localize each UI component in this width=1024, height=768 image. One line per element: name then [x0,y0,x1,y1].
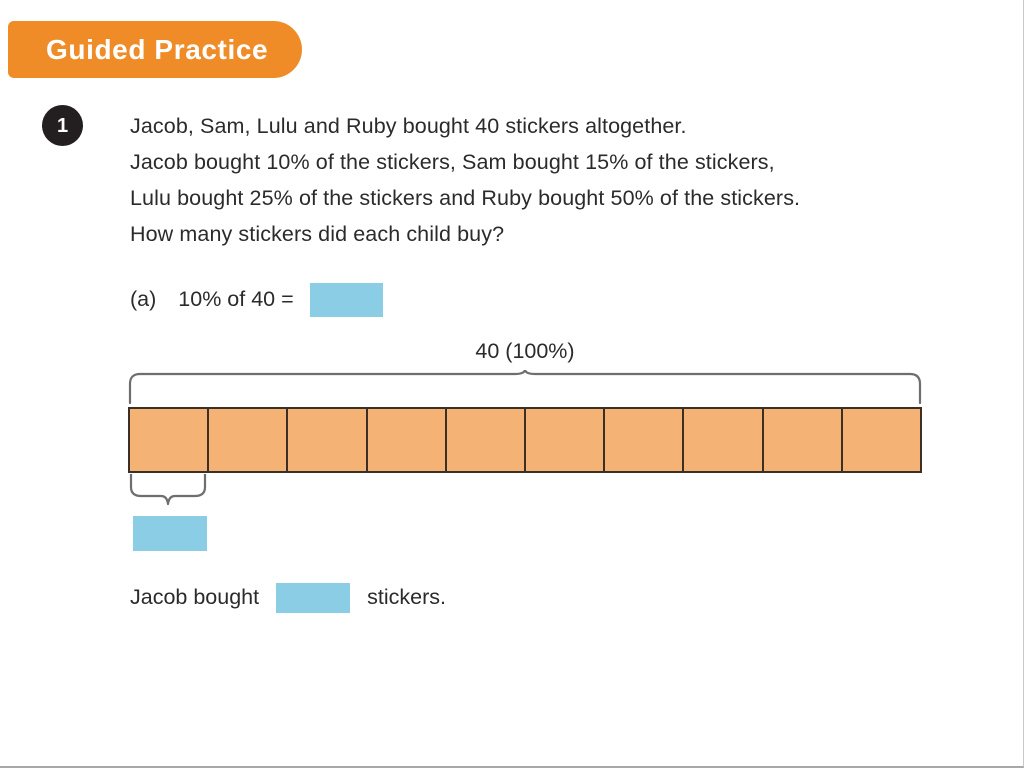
brace-top-icon [128,370,922,404]
bar-cell [209,409,288,471]
bar-cell [130,409,209,471]
statement-line-2: Jacob bought 10% of the stickers, Sam bo… [130,144,1010,180]
part-a-row: (a) 10% of 40 = [130,283,383,317]
bar-unit-answer-box[interactable] [133,516,207,551]
bar-model-whole-label: 40 (100%) [128,341,922,363]
problem-statement: Jacob, Sam, Lulu and Ruby bought 40 stic… [130,108,1010,252]
bar-cell [843,409,920,471]
statement-line-1: Jacob, Sam, Lulu and Ruby bought 40 stic… [130,108,1010,144]
bar-cell [764,409,843,471]
part-a-answer-box[interactable] [310,283,383,317]
conclusion-suffix: stickers. [367,587,446,609]
conclusion-answer-box[interactable] [276,583,350,613]
bar-model [128,407,922,473]
conclusion-row: Jacob bought stickers. [130,583,446,613]
statement-line-4: How many stickers did each child buy? [130,216,1010,252]
bar-cell [526,409,605,471]
guided-practice-banner: Guided Practice [8,21,302,78]
statement-line-3: Lulu bought 25% of the stickers and Ruby… [130,180,1010,216]
brace-bottom-icon [128,474,208,506]
part-a-letter: (a) [130,289,156,311]
question-number-label: 1 [57,116,68,136]
conclusion-prefix: Jacob bought [130,587,259,609]
bar-cell [605,409,684,471]
part-a-expression: 10% of 40 = [178,289,293,311]
bar-cell [368,409,447,471]
bar-cell [288,409,367,471]
worksheet-page: Guided Practice 1 Jacob, Sam, Lulu and R… [0,0,1024,768]
question-number-badge: 1 [42,105,83,146]
banner-title: Guided Practice [46,36,268,64]
bar-cell [447,409,526,471]
bar-cell [684,409,763,471]
